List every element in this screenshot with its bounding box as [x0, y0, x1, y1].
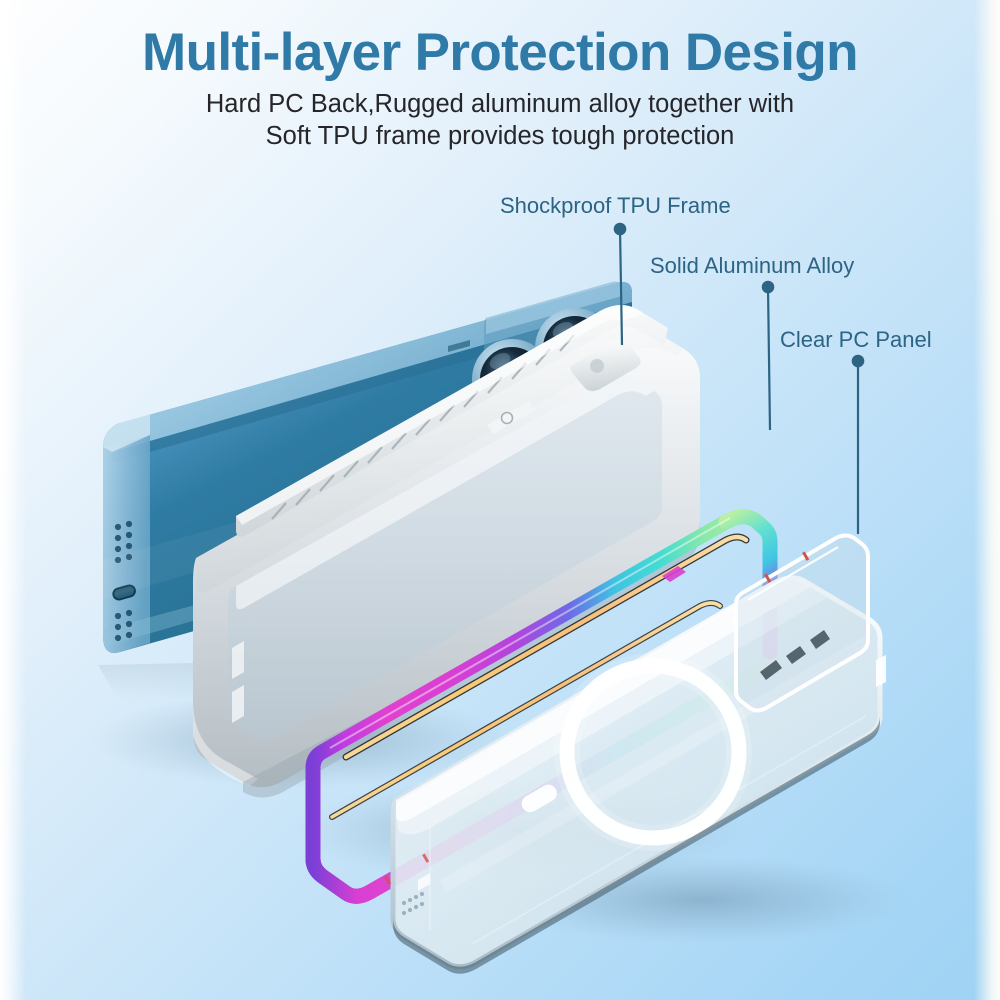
callout-label-alloy: Solid Aluminum Alloy: [650, 253, 854, 279]
callout-label-tpu: Shockproof TPU Frame: [500, 193, 731, 219]
subtitle-line-2: Soft TPU frame provides tough protection: [0, 120, 1000, 152]
subtitle-line-1: Hard PC Back,Rugged aluminum alloy toget…: [206, 90, 794, 118]
page-title: Multi-layer Protection Design: [0, 22, 1000, 83]
pc-side-notch: [876, 655, 886, 687]
callout-label-pc: Clear PC Panel: [780, 327, 932, 353]
page-subtitle: Hard PC Back,Rugged aluminum alloy toget…: [0, 88, 1000, 152]
product-infographic: Multi-layer Protection Design Hard PC Ba…: [0, 0, 1000, 1000]
